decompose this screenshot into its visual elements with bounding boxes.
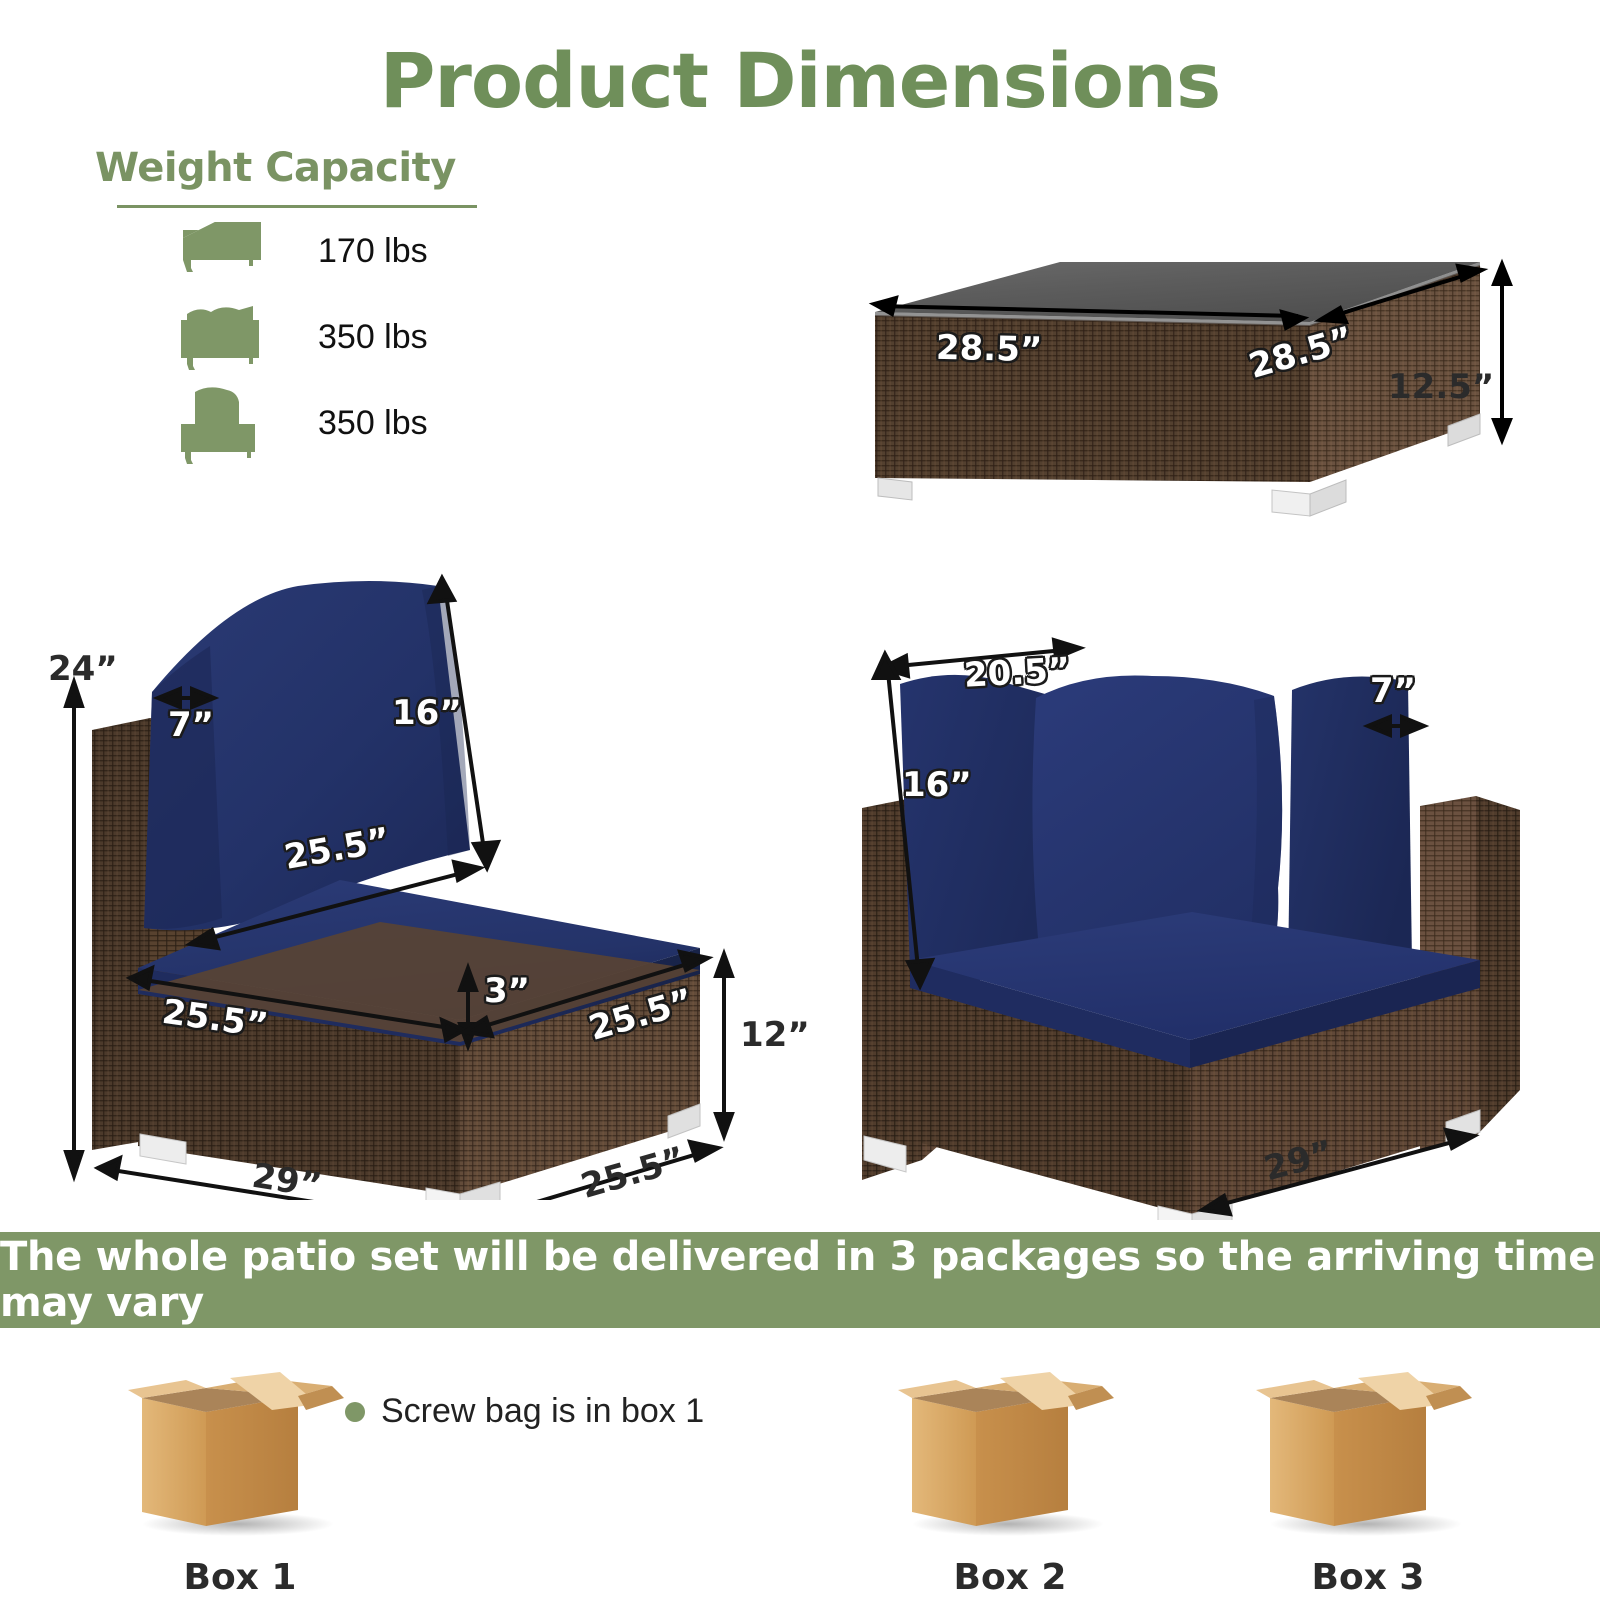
screw-bag-note-text: Screw bag is in box 1 — [381, 1392, 704, 1431]
armless-chair-diagram: 24” 7” 16” 25.5” 3” 25.5” 25.5” 12” 29” … — [40, 550, 800, 1200]
corner-sofa-illustration — [840, 620, 1600, 1220]
weight-capacity-value: 350 lbs — [318, 404, 428, 443]
dim-chair-base-front: 29” — [250, 1159, 324, 1203]
armless-chair-icon — [165, 380, 280, 466]
dim-chair-back-thickness: 7” — [168, 708, 214, 742]
box-icon — [890, 1352, 1130, 1542]
box-icon — [1248, 1352, 1488, 1542]
dim-sofa-pillow-height: 16” — [902, 768, 972, 802]
box-caption: Box 2 — [890, 1557, 1130, 1598]
weight-capacity-value: 170 lbs — [318, 232, 428, 271]
box-icon — [120, 1352, 360, 1542]
weight-capacity-value: 350 lbs — [318, 318, 428, 357]
bullet-icon — [345, 1402, 365, 1422]
dim-table-height: 12.5” — [1388, 370, 1494, 404]
box-group-2: Box 2 — [890, 1352, 1130, 1598]
delivery-banner: The whole patio set will be delivered in… — [0, 1232, 1600, 1328]
coffee-table-icon — [165, 208, 280, 294]
weight-capacity-row-armless-chair: 350 lbs — [165, 380, 525, 466]
dim-chair-back-height: 16” — [392, 696, 462, 730]
page-title: Product Dimensions — [0, 36, 1600, 125]
coffee-table-diagram: 28.5” 28.5” 12.5” — [840, 250, 1540, 580]
weight-capacity-heading: Weight Capacity — [95, 145, 525, 191]
screw-bag-note: Screw bag is in box 1 — [345, 1392, 704, 1431]
corner-sofa-icon — [165, 294, 280, 380]
weight-capacity-row-table: 170 lbs — [165, 208, 525, 294]
coffee-table-illustration — [840, 250, 1540, 580]
box-caption: Box 3 — [1248, 1557, 1488, 1598]
weight-capacity-row-corner-sofa: 350 lbs — [165, 294, 525, 380]
delivery-banner-text: The whole patio set will be delivered in… — [0, 1234, 1600, 1326]
dim-chair-seat-thickness: 3” — [484, 974, 530, 1008]
box-caption: Box 1 — [120, 1557, 360, 1598]
corner-sofa-diagram: 20.5” 16” 7” 29” — [840, 620, 1600, 1220]
weight-capacity-section: Weight Capacity 170 lbs 350 lbs 350 lbs — [95, 145, 525, 466]
box-group-3: Box 3 — [1248, 1352, 1488, 1598]
dim-sofa-pillow-thickness: 7” — [1370, 674, 1416, 708]
dim-sofa-pillow-width: 20.5” — [963, 653, 1071, 693]
box-group-1: Box 1 — [120, 1352, 360, 1598]
dim-table-left-width: 28.5” — [936, 331, 1043, 368]
armless-chair-illustration — [40, 550, 800, 1200]
dim-chair-base-height: 12” — [740, 1018, 810, 1052]
dim-chair-overall-height: 24” — [48, 652, 118, 686]
